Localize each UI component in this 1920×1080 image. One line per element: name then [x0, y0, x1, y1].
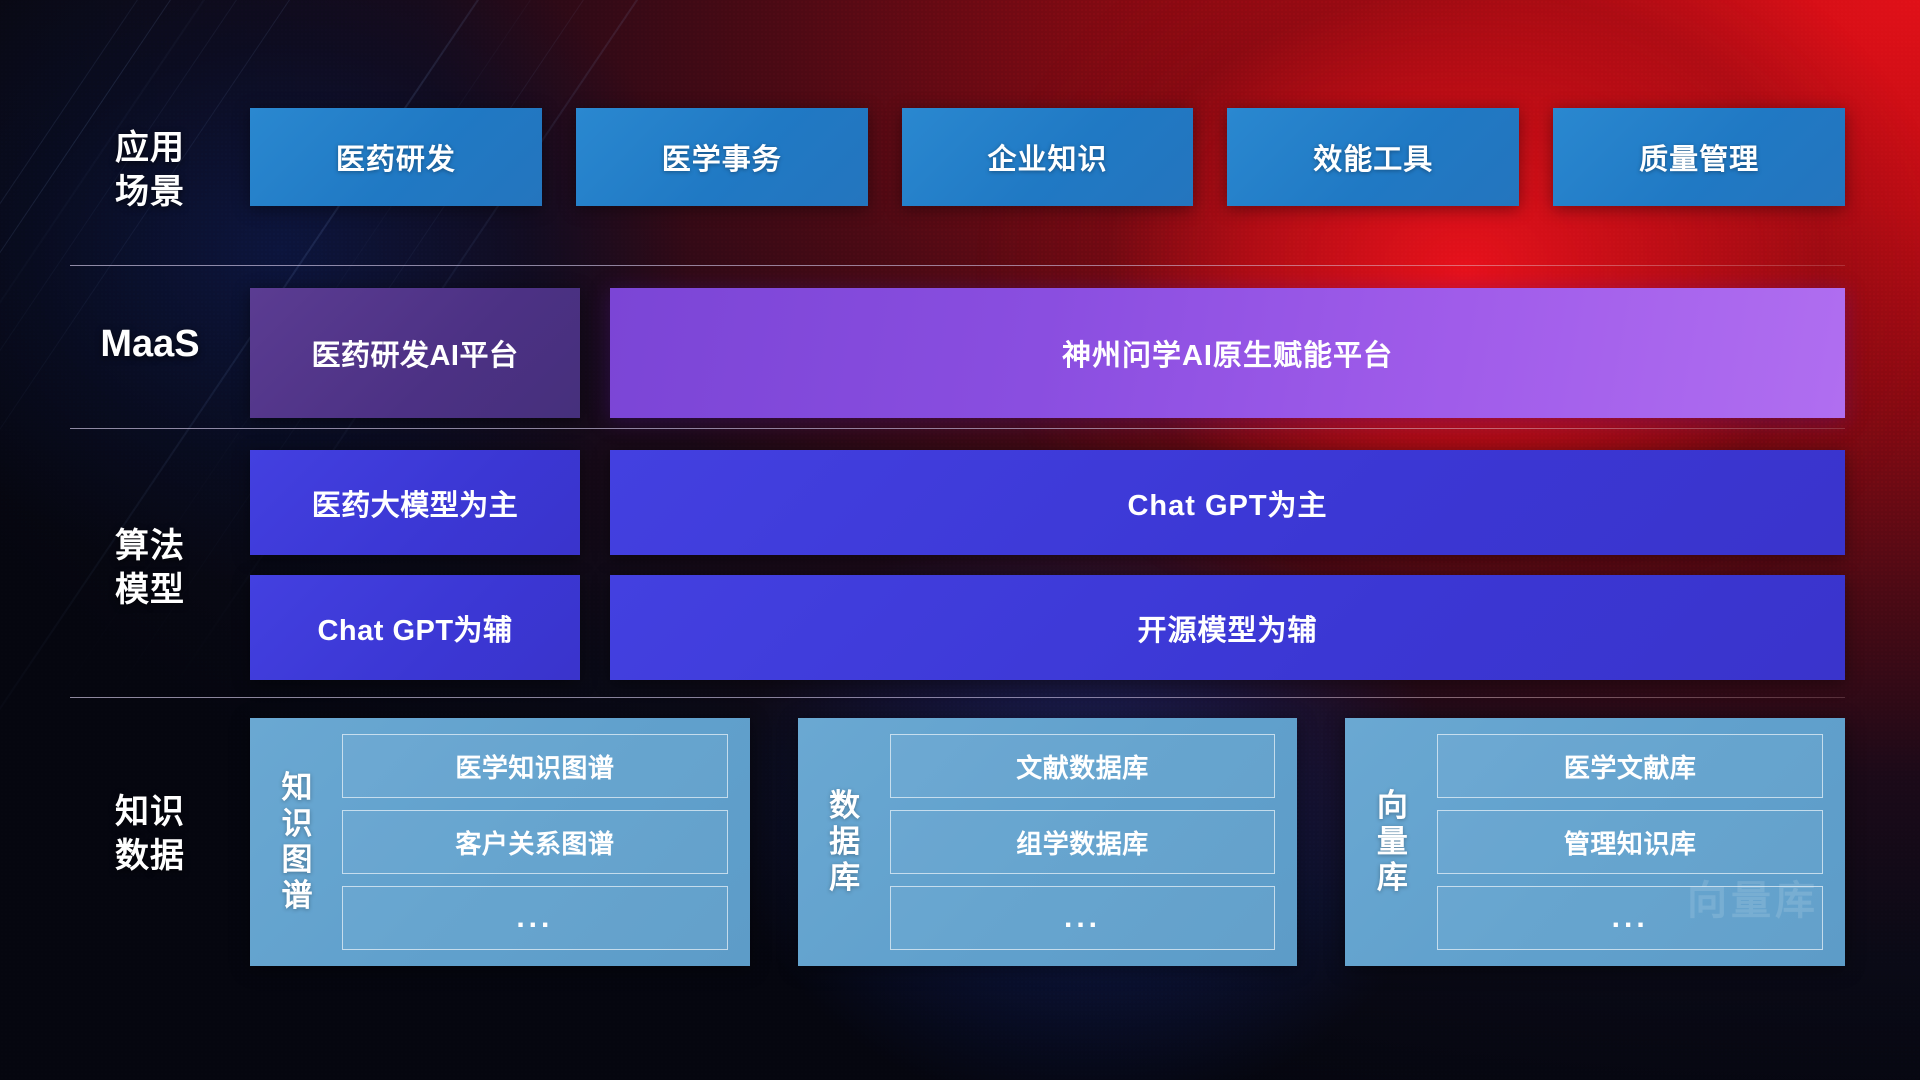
divider-apps-maas: [70, 265, 1845, 266]
knowledge-item-omics-database[interactable]: 组学数据库: [890, 810, 1276, 874]
row-label-application-scenarios: 应用 场景: [75, 126, 225, 214]
knowledge-panel-vertical-label-database: 数 据 库: [816, 788, 874, 896]
application-box-quality-management[interactable]: 质量管理: [1553, 108, 1845, 206]
maas-box-shenzhou-wenxue-platform[interactable]: 神州问学AI原生赋能平台: [610, 288, 1845, 418]
vertical-label-char: 库: [1377, 860, 1408, 896]
knowledge-item-more-knowledge-graph[interactable]: ...: [342, 886, 728, 950]
row-label-algorithm-model: 算法 模型: [75, 524, 225, 612]
application-box-medical-affairs[interactable]: 医学事务: [576, 108, 868, 206]
knowledge-item-customer-relation-graph[interactable]: 客户关系图谱: [342, 810, 728, 874]
vertical-label-char: 向: [1377, 788, 1408, 824]
row-label-line: 数据: [75, 834, 225, 878]
knowledge-panel-vertical-label-knowledge-graph: 知 识 图 谱: [268, 770, 326, 914]
row-label-line: MaaS: [75, 322, 225, 366]
knowledge-panel-vertical-label-vector-store: 向 量 库: [1363, 788, 1421, 896]
vertical-label-char: 数: [829, 788, 860, 824]
row-label-line: 模型: [75, 568, 225, 612]
knowledge-item-list-knowledge-graph: 医学知识图谱 客户关系图谱 ...: [342, 734, 728, 950]
algorithm-box-opensource-secondary[interactable]: 开源模型为辅: [610, 575, 1845, 680]
knowledge-item-more-vector-store[interactable]: ...: [1437, 886, 1823, 950]
divider-algo-knowledge: [70, 697, 1845, 698]
row-body-application-scenarios: 医药研发 医学事务 企业知识 效能工具 质量管理: [250, 108, 1845, 206]
row-label-knowledge-data: 知识 数据: [75, 790, 225, 878]
vertical-label-char: 库: [829, 860, 860, 896]
diagram-stage: 应用 场景 医药研发 医学事务 企业知识 效能工具 质量管理 MaaS: [0, 0, 1920, 1080]
knowledge-item-list-vector-store: 医学文献库 管理知识库 ...: [1437, 734, 1823, 950]
vertical-label-char: 量: [1377, 824, 1408, 860]
diagram-content: 应用 场景 医药研发 医学事务 企业知识 效能工具 质量管理 MaaS: [0, 0, 1920, 1080]
row-body-maas: 医药研发AI平台 神州问学AI原生赋能平台: [250, 288, 1845, 418]
vertical-label-char: 识: [282, 806, 313, 842]
row-label-line: 知识: [75, 790, 225, 834]
algorithm-line-secondary: Chat GPT为辅 开源模型为辅: [250, 575, 1845, 680]
algorithm-box-chatgpt-primary[interactable]: Chat GPT为主: [610, 450, 1845, 555]
vertical-label-char: 据: [829, 824, 860, 860]
application-box-enterprise-knowledge[interactable]: 企业知识: [902, 108, 1194, 206]
vertical-label-char: 谱: [282, 878, 313, 914]
row-label-line: 应用: [75, 126, 225, 170]
row-label-maas: MaaS: [75, 322, 225, 366]
row-body-algorithm-model: 医药大模型为主 Chat GPT为主 Chat GPT为辅 开源模型为辅: [250, 450, 1845, 680]
application-box-medicine-rd[interactable]: 医药研发: [250, 108, 542, 206]
knowledge-item-medical-literature-store[interactable]: 医学文献库: [1437, 734, 1823, 798]
knowledge-item-management-knowledge-store[interactable]: 管理知识库: [1437, 810, 1823, 874]
row-label-line: 场景: [75, 170, 225, 214]
algorithm-box-medicine-llm-primary[interactable]: 医药大模型为主: [250, 450, 580, 555]
application-box-list: 医药研发 医学事务 企业知识 效能工具 质量管理: [250, 108, 1845, 206]
knowledge-item-list-database: 文献数据库 组学数据库 ...: [890, 734, 1276, 950]
knowledge-panel-vector-store[interactable]: 向 量 库 医学文献库 管理知识库 ... 向量库: [1345, 718, 1845, 966]
knowledge-panel-database[interactable]: 数 据 库 文献数据库 组学数据库 ...: [798, 718, 1298, 966]
knowledge-item-literature-database[interactable]: 文献数据库: [890, 734, 1276, 798]
knowledge-panel-list: 知 识 图 谱 医学知识图谱 客户关系图谱 ...: [250, 718, 1845, 966]
algorithm-line-primary: 医药大模型为主 Chat GPT为主: [250, 450, 1845, 555]
application-box-efficiency-tools[interactable]: 效能工具: [1227, 108, 1519, 206]
maas-box-medicine-rd-ai-platform[interactable]: 医药研发AI平台: [250, 288, 580, 418]
maas-box-list: 医药研发AI平台 神州问学AI原生赋能平台: [250, 288, 1845, 418]
algorithm-box-chatgpt-secondary[interactable]: Chat GPT为辅: [250, 575, 580, 680]
knowledge-item-medical-knowledge-graph[interactable]: 医学知识图谱: [342, 734, 728, 798]
vertical-label-char: 图: [282, 842, 313, 878]
vertical-label-char: 知: [282, 770, 313, 806]
row-body-knowledge-data: 知 识 图 谱 医学知识图谱 客户关系图谱 ...: [250, 718, 1845, 966]
row-label-line: 算法: [75, 524, 225, 568]
knowledge-item-more-database[interactable]: ...: [890, 886, 1276, 950]
knowledge-panel-knowledge-graph[interactable]: 知 识 图 谱 医学知识图谱 客户关系图谱 ...: [250, 718, 750, 966]
divider-maas-algo: [70, 428, 1845, 429]
